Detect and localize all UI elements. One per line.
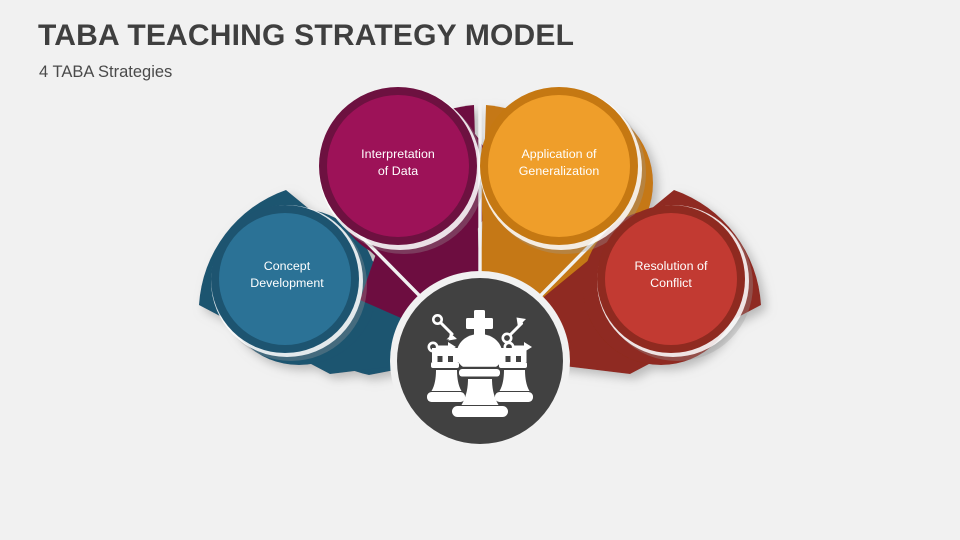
node-circle-concept[interactable] bbox=[219, 213, 351, 345]
center-hub[interactable] bbox=[390, 271, 570, 451]
slide-canvas: TABA TEACHING STRATEGY MODEL 4 TABA Stra… bbox=[0, 0, 960, 540]
node-circle-application[interactable] bbox=[488, 95, 630, 237]
taba-strategy-diagram: Concept Development Interpretation of Da… bbox=[0, 0, 960, 540]
node-circle-resolution[interactable] bbox=[605, 213, 737, 345]
chess-strategy-icon bbox=[427, 310, 533, 417]
node-circle-interpretation[interactable] bbox=[327, 95, 469, 237]
